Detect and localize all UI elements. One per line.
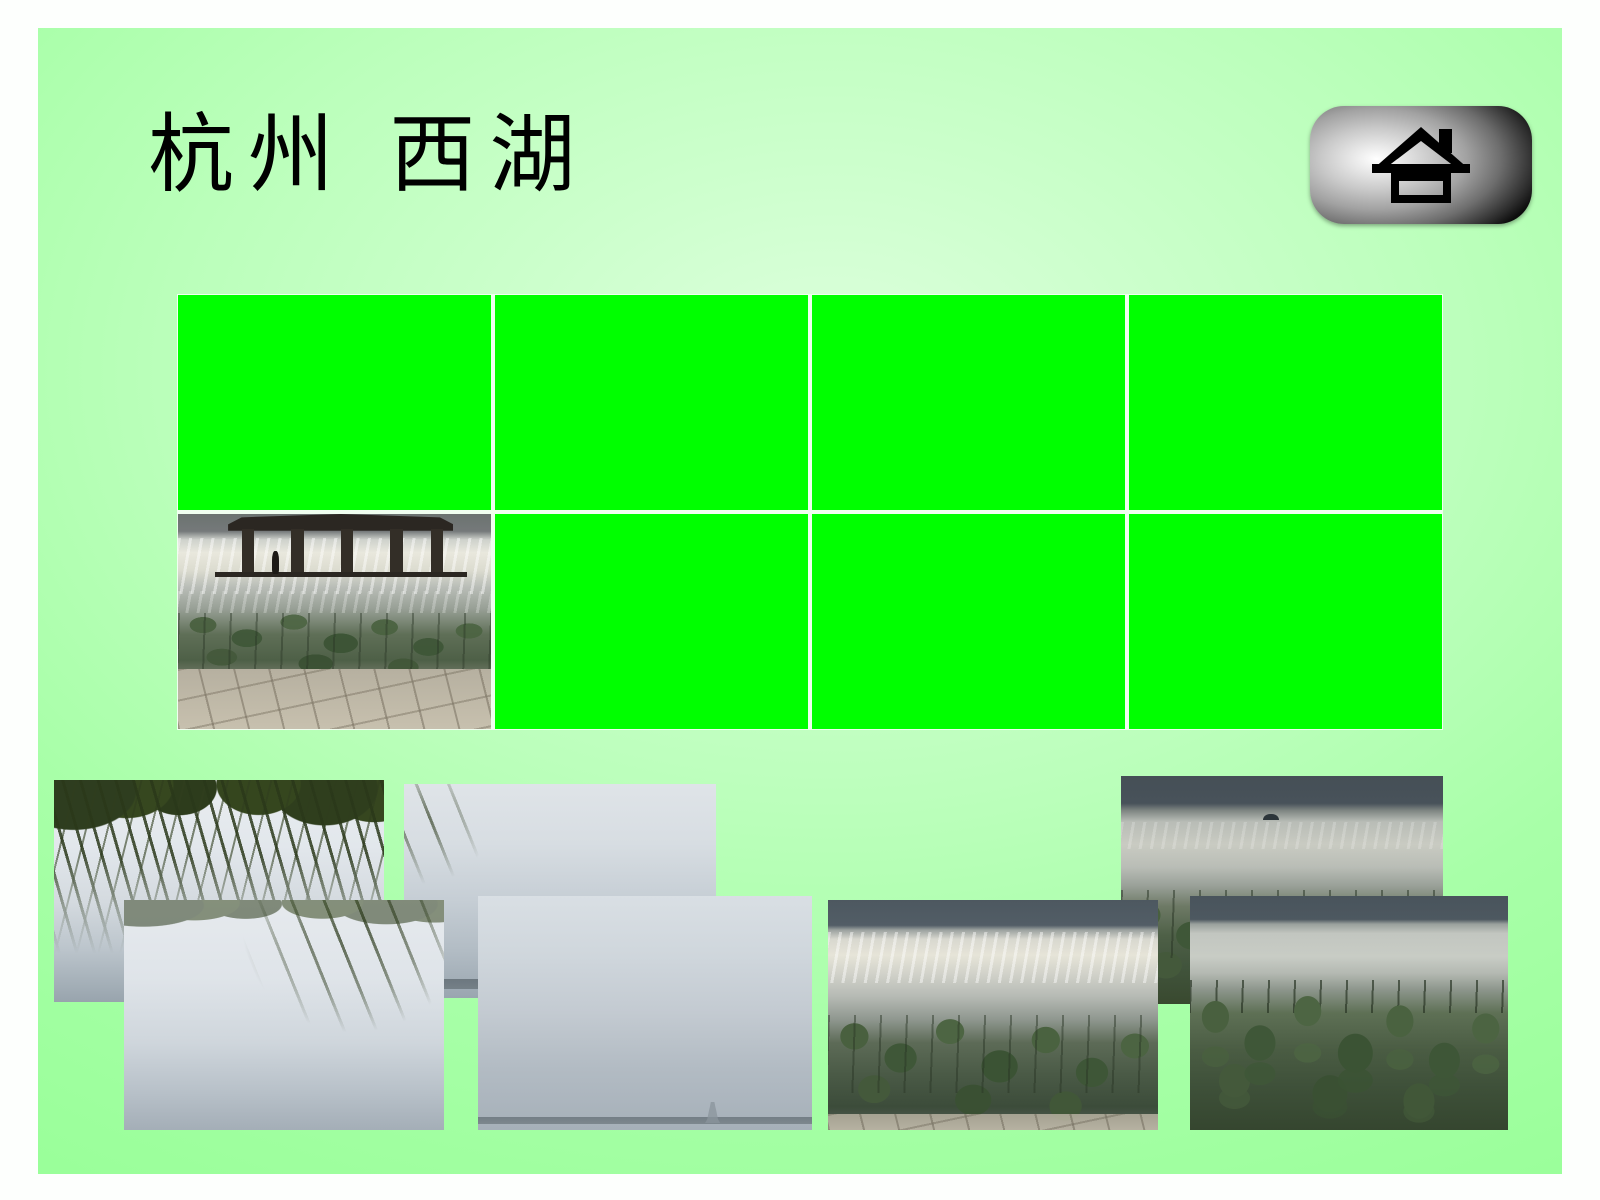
grid-cell-r2c4[interactable]: [1129, 514, 1442, 729]
photo-lotus-1[interactable]: [828, 900, 1158, 1130]
grid-cell-r1c3[interactable]: [812, 295, 1125, 510]
photo-grid: [177, 294, 1443, 730]
grid-cell-r2c2[interactable]: [495, 514, 808, 729]
grid-cell-r2c3[interactable]: [812, 514, 1125, 729]
photo-mist-2[interactable]: [478, 896, 812, 1130]
page-title: 杭州 西湖: [148, 110, 589, 200]
photo-willow-2[interactable]: [124, 900, 444, 1130]
slide-panel: 杭州 西湖: [38, 28, 1562, 1174]
grid-cell-r1c1[interactable]: [178, 295, 491, 510]
grid-cell-r1c4[interactable]: [1129, 295, 1442, 510]
slide-root: 杭州 西湖: [0, 0, 1600, 1200]
photo-lotus-2[interactable]: [1190, 896, 1508, 1130]
grid-cell-r2c1[interactable]: [178, 514, 491, 729]
grid-cell-r1c2[interactable]: [495, 295, 808, 510]
home-icon: [1369, 123, 1473, 207]
home-button[interactable]: [1310, 106, 1532, 224]
photo-pavilion: [178, 514, 491, 729]
